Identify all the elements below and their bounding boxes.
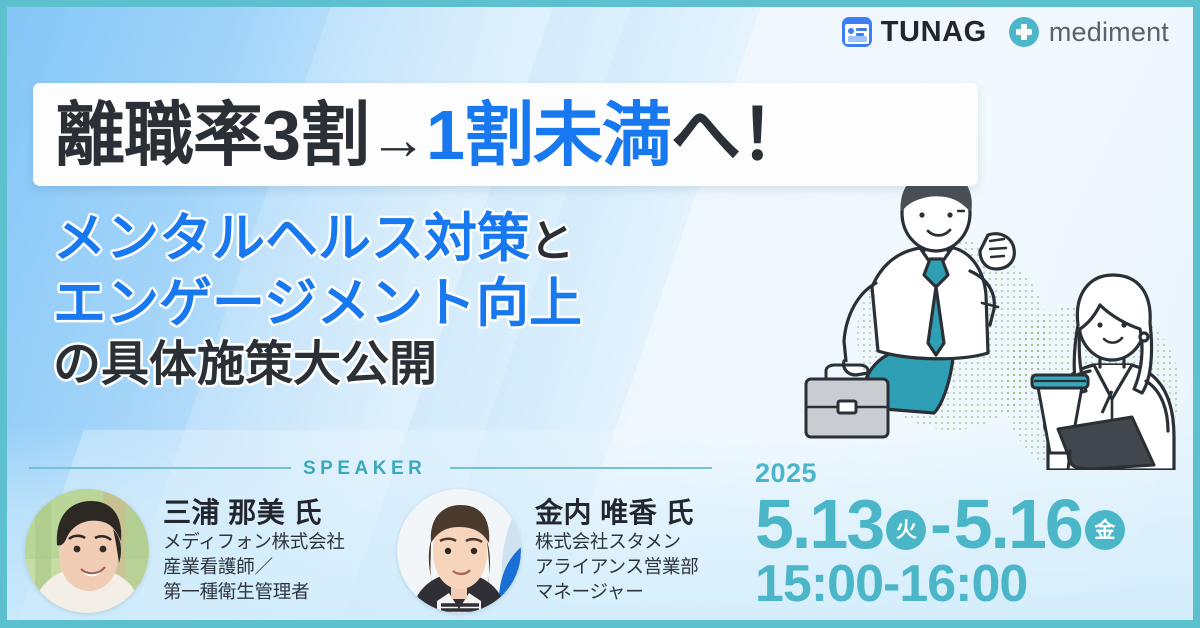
medical-plus-icon [1009, 17, 1039, 47]
event-time: 15:00-16:00 [755, 557, 1127, 612]
avatar-speaker-2 [397, 489, 521, 613]
speaker-1-affiliation-line-1: メディフォン株式会社 [163, 530, 345, 555]
event-datetime: 2025 5.13 火 - 5.16 金 15:00-16:00 [755, 459, 1127, 612]
avatar-speaker-1 [25, 489, 149, 613]
tunag-logo: TUNAG [842, 17, 987, 47]
speaker-card-2: 金内 唯香 氏 株式会社スタメン アライアンス営業部 マネージャー [397, 489, 745, 613]
subtitle: メンタルヘルス対策と エンゲージメント向上 の具体施策大公開 [53, 207, 582, 395]
avatar-1-svg [25, 489, 149, 613]
speaker-1-affiliation-line-3: 第一種衛生管理者 [163, 580, 345, 605]
mediment-logo: mediment [1009, 17, 1169, 47]
tunag-wordmark: TUNAG [881, 18, 987, 47]
speaker-label: SPEAKER [303, 459, 426, 478]
divider-right [450, 467, 712, 469]
subtitle-line-3: の具体施策大公開 [53, 336, 582, 395]
webinar-banner: TUNAG mediment 離職率3割→1割未満へ！ メンタルヘルス対策と エ… [0, 0, 1200, 628]
event-start-dow-badge: 火 [886, 510, 926, 550]
speaker-2-affiliation-line-3: マネージャー [535, 580, 699, 605]
headline-part-1: 離職率3割 [55, 96, 369, 174]
headline-highlight: 1割未満 [426, 96, 671, 174]
event-end-dow-badge: 金 [1085, 510, 1125, 550]
event-start-date: 5.13 [755, 489, 883, 559]
event-year: 2025 [755, 459, 1127, 487]
business-people-illustration [802, 175, 1200, 470]
tunag-card-icon [842, 17, 872, 47]
speaker-1-affiliation-line-2: 産業看護師／ [163, 555, 345, 580]
speaker-card-1: 三浦 那美 氏 メディフォン株式会社 産業看護師／ 第一種衛生管理者 [25, 489, 373, 613]
arrow-icon: → [369, 107, 426, 172]
speaker-2-affiliation-line-1: 株式会社スタメン [535, 530, 699, 555]
subtitle-line-1-tail: と [530, 217, 574, 266]
speaker-list: 三浦 那美 氏 メディフォン株式会社 産業看護師／ 第一種衛生管理者 [25, 489, 745, 613]
speaker-1-name: 三浦 那美 氏 [163, 497, 345, 528]
subtitle-line-2: エンゲージメント向上 [53, 272, 582, 337]
speaker-2-name: 金内 唯香 氏 [535, 497, 699, 528]
divider-left [29, 467, 291, 469]
avatar-2-svg [397, 489, 521, 613]
speaker-2-affiliation: 株式会社スタメン アライアンス営業部 マネージャー [535, 530, 699, 604]
speaker-2-text: 金内 唯香 氏 株式会社スタメン アライアンス営業部 マネージャー [535, 489, 699, 604]
event-date-separator: - [930, 492, 951, 556]
subtitle-line-1-main: メンタルヘルス対策 [53, 209, 530, 268]
page-title: 離職率3割→1割未満へ！ [55, 100, 809, 170]
event-end-date: 5.16 [954, 489, 1082, 559]
headline-part-3: へ！ [671, 96, 809, 174]
speaker-1-affiliation: メディフォン株式会社 産業看護師／ 第一種衛生管理者 [163, 530, 345, 604]
mediment-wordmark: mediment [1049, 19, 1169, 46]
event-date-range: 5.13 火 - 5.16 金 [755, 489, 1127, 559]
speaker-1-text: 三浦 那美 氏 メディフォン株式会社 産業看護師／ 第一種衛生管理者 [163, 489, 345, 604]
illustration-svg [802, 175, 1200, 470]
subtitle-line-1: メンタルヘルス対策と [53, 207, 582, 272]
logo-row: TUNAG mediment [842, 17, 1169, 47]
headline-band: 離職率3割→1割未満へ！ [33, 83, 978, 186]
speaker-2-affiliation-line-2: アライアンス営業部 [535, 555, 699, 580]
